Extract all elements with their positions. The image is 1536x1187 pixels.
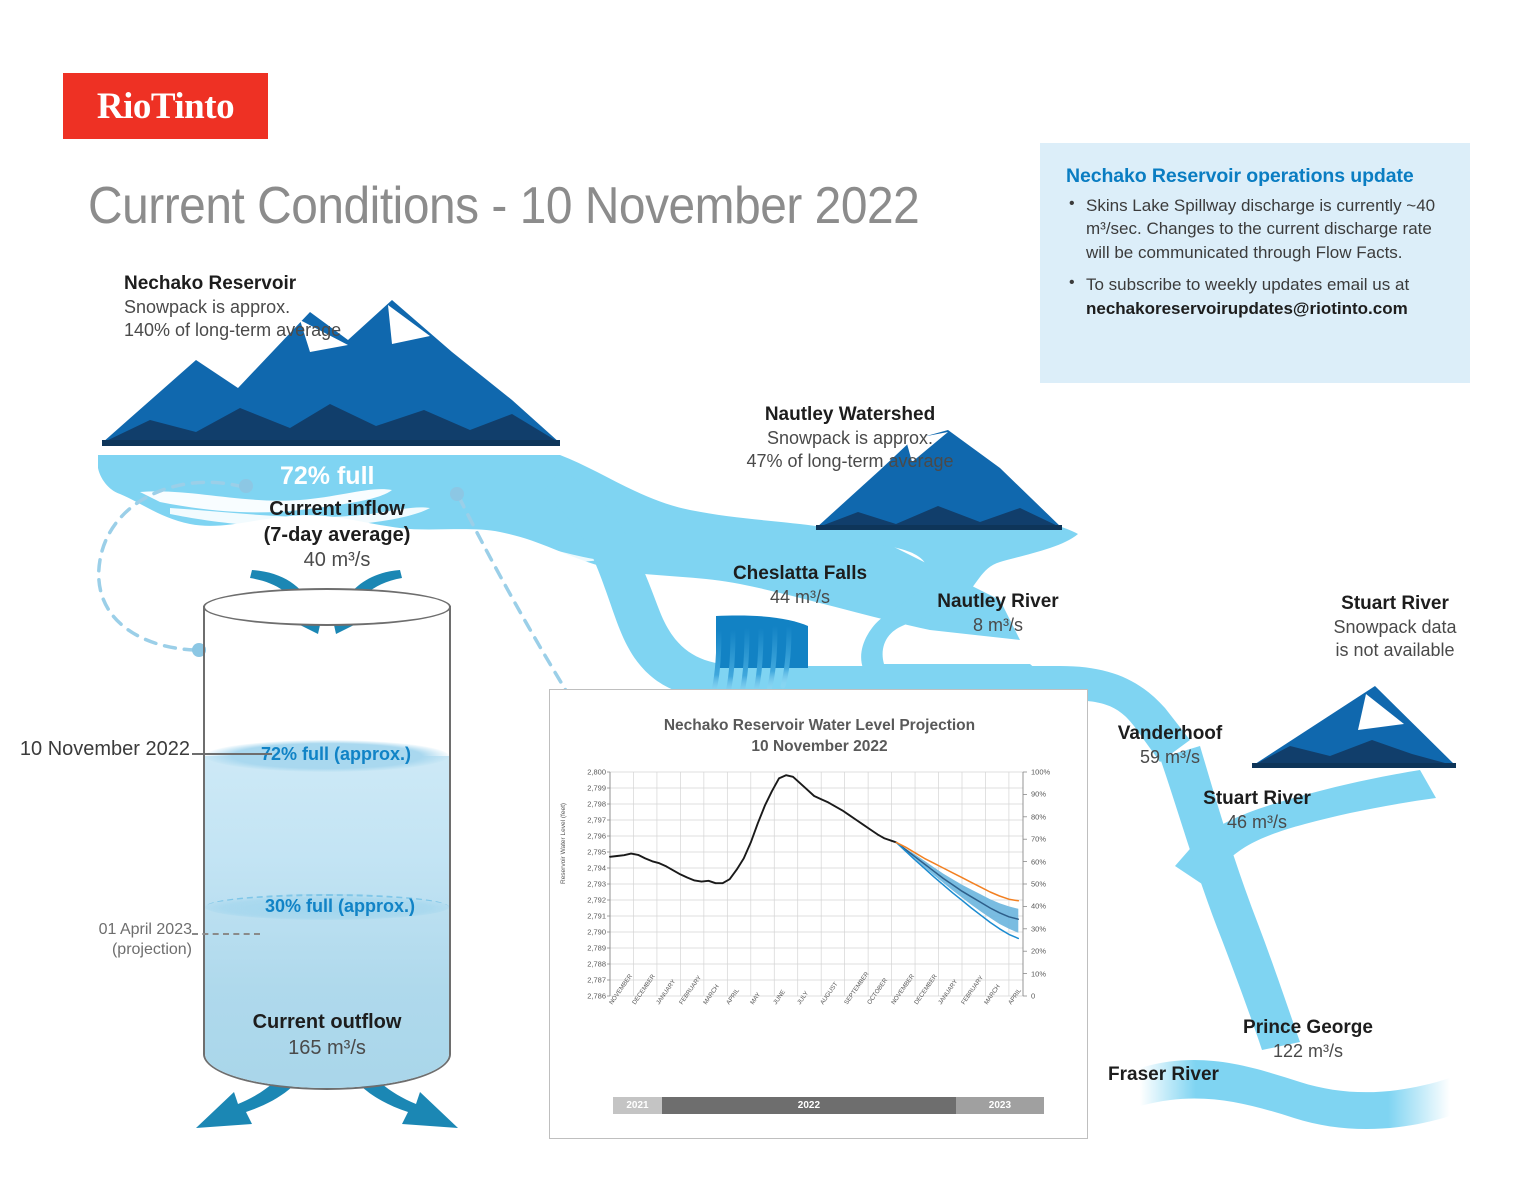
nautley-river-value: 8 m³/s	[848, 614, 1148, 637]
nautley-river-label: Nautley River 8 m³/s	[848, 590, 1148, 637]
outflow-title: Current outflow	[177, 1010, 477, 1036]
chart-title: Nechako Reservoir Water Level Projection	[550, 716, 1089, 737]
chart-y-tick: 2,797	[554, 816, 606, 825]
stuart-mtn-title: Stuart River	[1280, 592, 1510, 616]
prince-george-label: Prince George 122 m³/s	[1158, 1016, 1458, 1063]
inflow-value: 40 m³/s	[172, 548, 502, 574]
outflow-value: 165 m³/s	[177, 1036, 477, 1062]
chart-year-bands: 202120222023	[613, 1097, 1044, 1114]
logo-wordmark: RioTinto	[97, 85, 234, 128]
nechako-mountain-label: Nechako Reservoir Snowpack is approx. 14…	[124, 272, 341, 342]
chart-svg	[550, 764, 1089, 1060]
prince-george-title: Prince George	[1158, 1016, 1458, 1040]
chart-y-tick: 2,793	[554, 880, 606, 889]
level-projection-label: 30% full (approx.)	[265, 896, 415, 917]
chart-y-tick: 2,789	[554, 944, 606, 953]
chart-y-tick: 2,800	[554, 768, 606, 777]
inflow-subtitle: (7-day average)	[172, 523, 502, 549]
cheslatta-falls-icon	[713, 615, 808, 696]
chart-y-tick: 2,791	[554, 912, 606, 921]
ops-update-email[interactable]: nechakoreservoirupdates@riotinto.com	[1086, 299, 1408, 318]
nautley-mountain-label: Nautley Watershed Snowpack is approx. 47…	[650, 403, 1050, 473]
chart-y2-tick: 50%	[1031, 880, 1046, 889]
connector-dot-lake	[239, 479, 253, 493]
stuart-river-value: 46 m³/s	[1132, 811, 1382, 834]
chart-y-tick: 2,786	[554, 992, 606, 1001]
stuart-river-label: Stuart River 46 m³/s	[1132, 787, 1382, 834]
lake-full-label: 72% full	[280, 462, 374, 491]
chart-y2-tick: 10%	[1031, 969, 1046, 978]
chart-title-block: Nechako Reservoir Water Level Projection…	[550, 716, 1089, 758]
chart-y2-tick: 80%	[1031, 812, 1046, 821]
stuart-mtn-line2: is not available	[1280, 639, 1510, 662]
chart-y2-tick: 0	[1031, 992, 1035, 1001]
chart-y-tick: 2,799	[554, 784, 606, 793]
ops-update-title: Nechako Reservoir operations update	[1066, 165, 1444, 188]
water-level-chart-panel: Nechako Reservoir Water Level Projection…	[549, 689, 1088, 1139]
ops-update-bullet-2-text: To subscribe to weekly updates email us …	[1086, 275, 1409, 294]
date-projection-line2: (projection)	[30, 940, 192, 960]
operations-update-box: Nechako Reservoir operations update Skin…	[1040, 143, 1470, 383]
cheslatta-title: Cheslatta Falls	[650, 562, 950, 586]
inflow-title: Current inflow	[172, 497, 502, 523]
ops-update-list: Skins Lake Spillway discharge is current…	[1066, 194, 1444, 320]
nechako-label-line2: 140% of long-term average	[124, 319, 341, 342]
outflow-label: Current outflow 165 m³/s	[177, 1010, 477, 1061]
ops-update-bullet-2: To subscribe to weekly updates email us …	[1066, 273, 1444, 320]
prince-george-value: 122 m³/s	[1158, 1040, 1458, 1063]
date-current-label: 10 November 2022	[0, 738, 190, 761]
date-projection-label: 01 April 2023 (projection)	[30, 920, 192, 959]
chart-y2-tick: 100%	[1031, 768, 1050, 777]
chart-y-tick: 2,790	[554, 928, 606, 937]
level-current-label: 72% full (approx.)	[261, 744, 411, 765]
chart-subtitle: 10 November 2022	[550, 737, 1089, 758]
stuart-mountain-label: Stuart River Snowpack data is not availa…	[1280, 592, 1510, 662]
chart-y2-tick: 20%	[1031, 947, 1046, 956]
chart-y2-tick: 30%	[1031, 924, 1046, 933]
chart-y-tick: 2,787	[554, 976, 606, 985]
chart-y-tick: 2,798	[554, 800, 606, 809]
chart-year-band: 2023	[956, 1097, 1044, 1114]
chart-y2-tick: 40%	[1031, 902, 1046, 911]
page-title: Current Conditions - 10 November 2022	[88, 176, 919, 236]
nechako-label-line1: Snowpack is approx.	[124, 296, 341, 319]
fraser-river-title: Fraser River	[1108, 1063, 1219, 1087]
nautley-river-title: Nautley River	[848, 590, 1148, 614]
chart-y-tick: 2,796	[554, 832, 606, 841]
stuart-mtn-line1: Snowpack data	[1280, 616, 1510, 639]
nautley-label-line2: 47% of long-term average	[650, 450, 1050, 473]
chart-year-band: 2022	[662, 1097, 956, 1114]
chart-y2-tick: 90%	[1031, 790, 1046, 799]
chart-y-tick: 2,794	[554, 864, 606, 873]
chart-y-tick: 2,792	[554, 896, 606, 905]
nechako-label-title: Nechako Reservoir	[124, 272, 341, 296]
nautley-label-title: Nautley Watershed	[650, 403, 1050, 427]
chart-year-band: 2021	[613, 1097, 662, 1114]
chart-plot-area: Reservoir Water Level (feet) 2,7862,7872…	[550, 764, 1089, 1060]
nautley-label-line1: Snowpack is approx.	[650, 427, 1050, 450]
date-projection-line1: 01 April 2023	[30, 920, 192, 940]
chart-y-tick: 2,788	[554, 960, 606, 969]
leader-line-projection	[192, 933, 260, 935]
leader-line-current	[192, 753, 272, 755]
chart-y2-tick: 60%	[1031, 857, 1046, 866]
stuart-river-title: Stuart River	[1132, 787, 1382, 811]
fraser-river-label: Fraser River	[1108, 1063, 1219, 1087]
inflow-label: Current inflow (7-day average) 40 m³/s	[172, 497, 502, 574]
chart-y-tick: 2,795	[554, 848, 606, 857]
ops-update-bullet-1: Skins Lake Spillway discharge is current…	[1066, 194, 1444, 264]
cylinder-rim	[203, 588, 451, 626]
rio-tinto-logo: RioTinto	[63, 73, 268, 139]
chart-y2-tick: 70%	[1031, 835, 1046, 844]
